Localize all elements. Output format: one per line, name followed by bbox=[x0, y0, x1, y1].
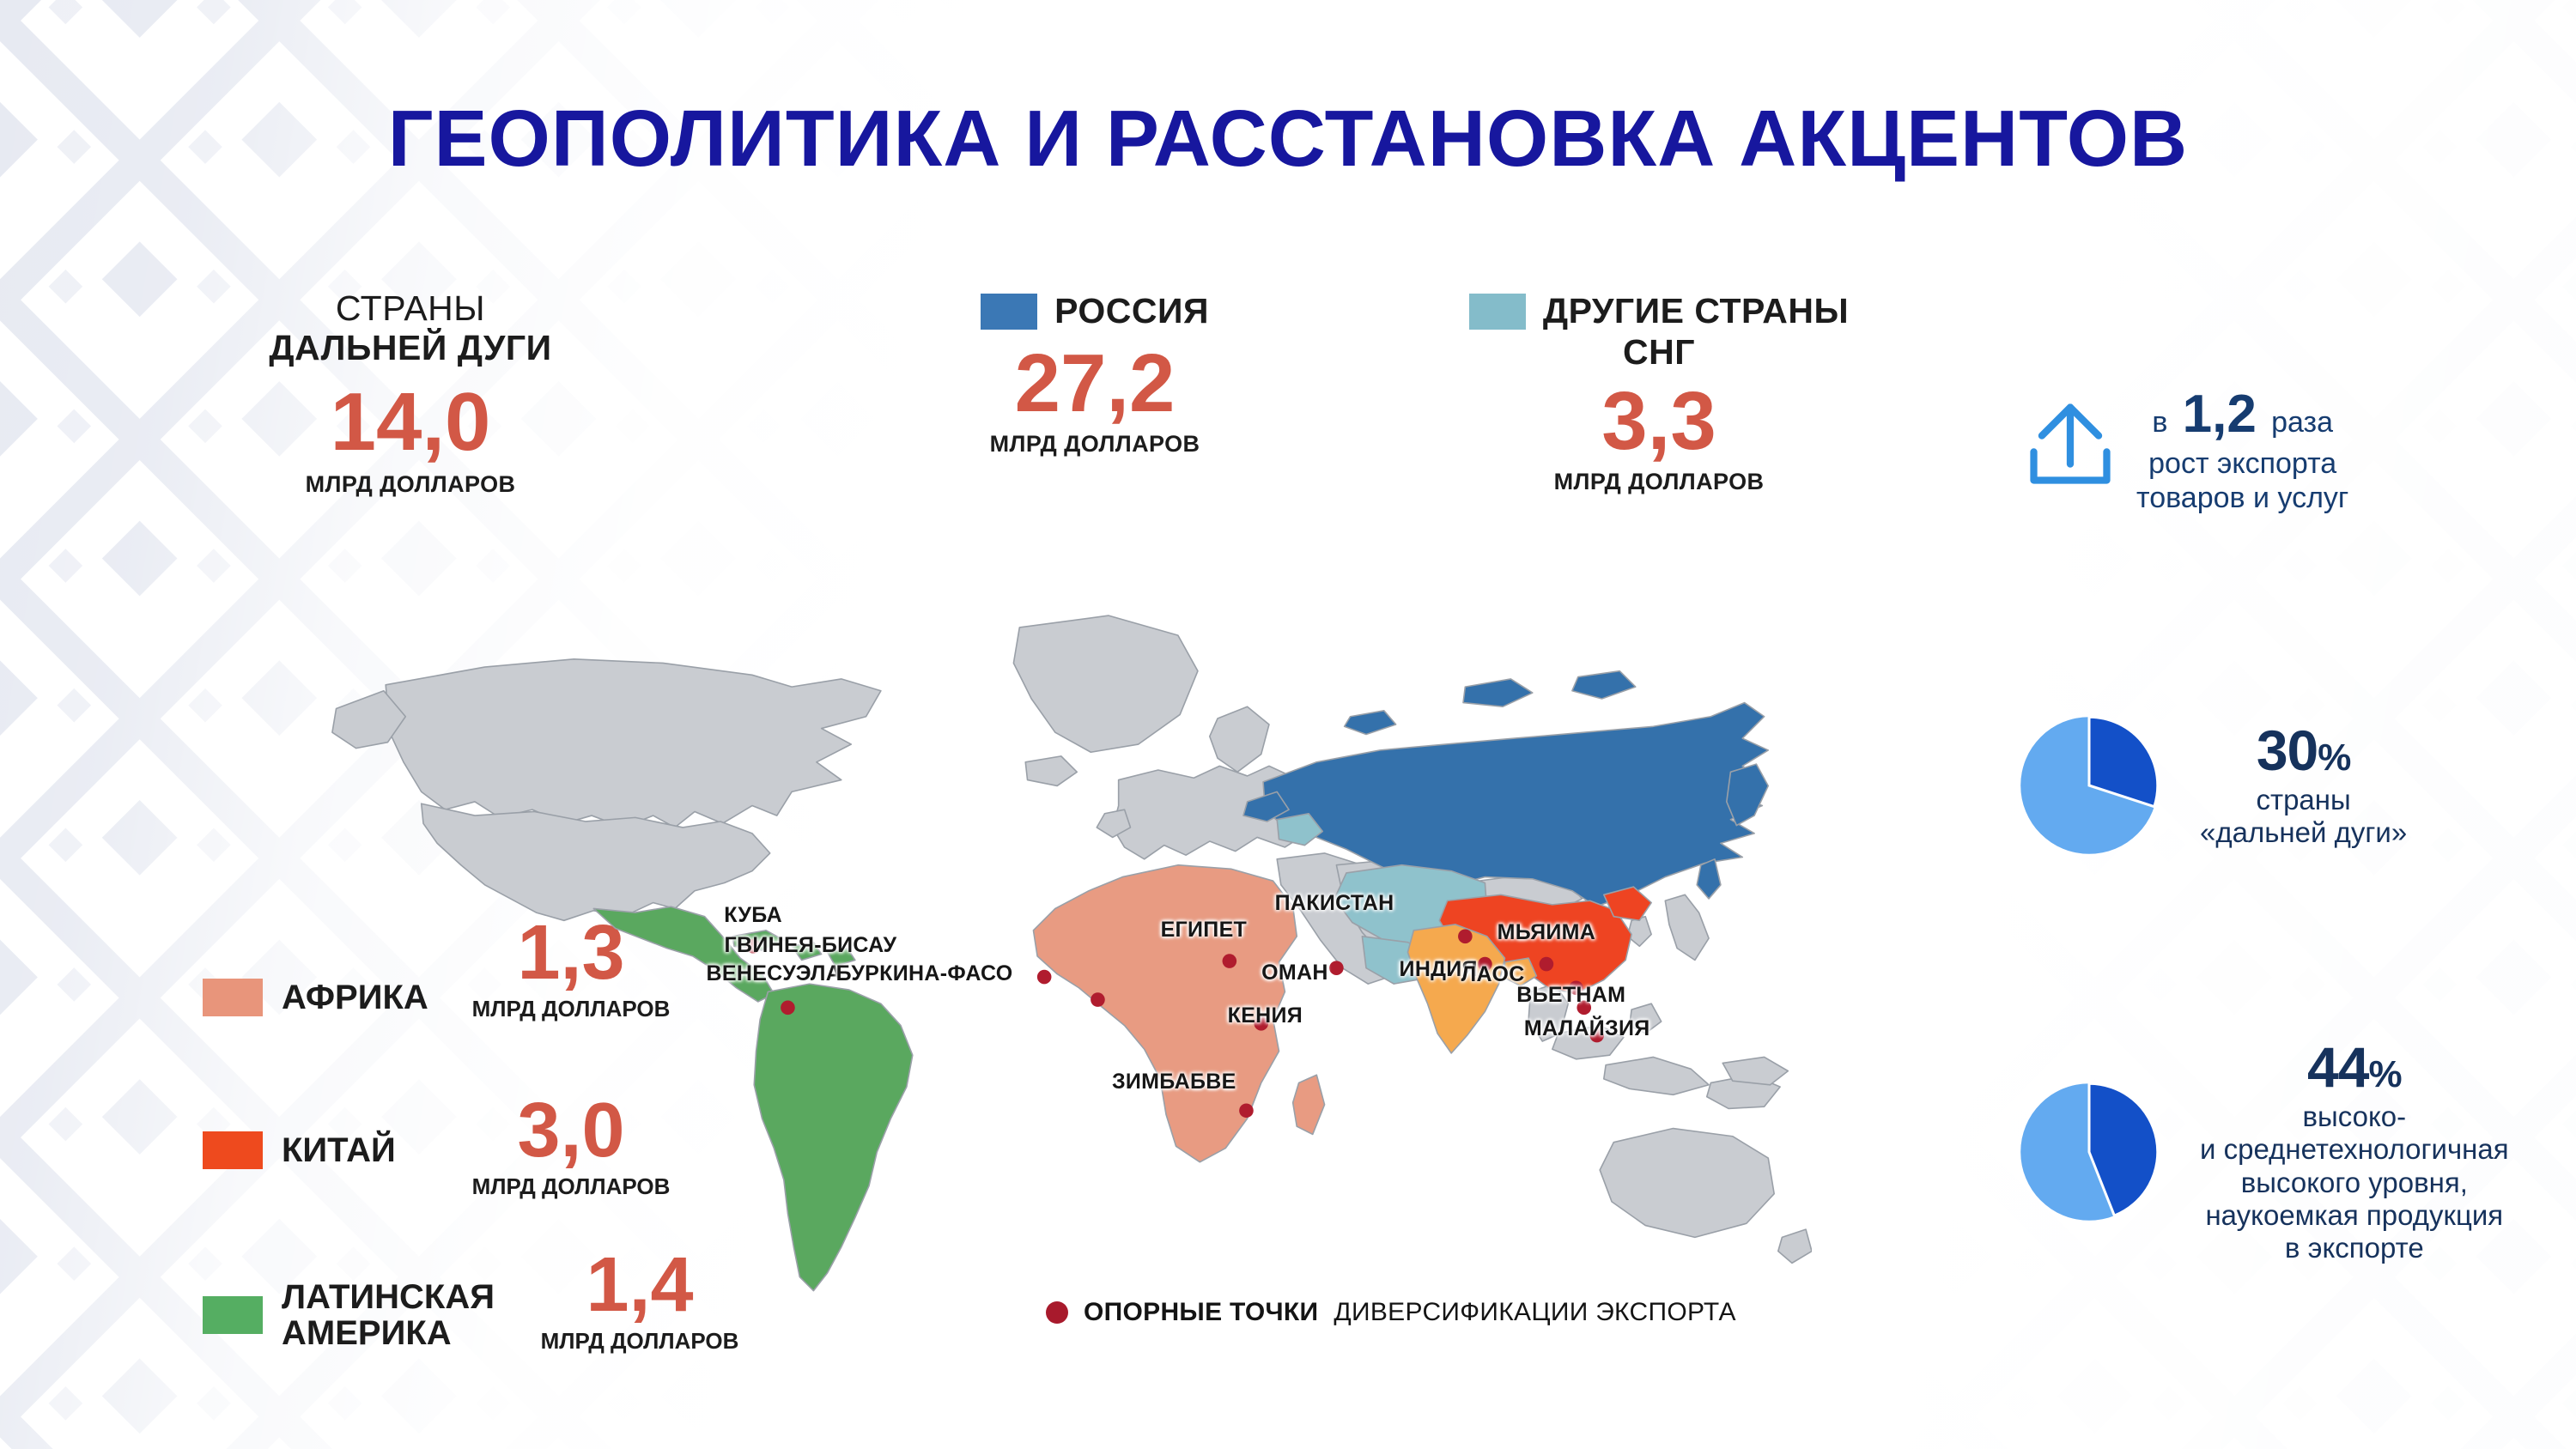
stat-block-far-arc: СТРАНЫ ДАЛЬНЕЙ ДУГИ 14,0 МЛРД ДОЛЛАРОВ bbox=[209, 289, 612, 498]
map-label: БУРКИНА-ФАСО bbox=[836, 961, 1013, 986]
map-footer-legend: ОПОРНЫЕ ТОЧКИ ДИВЕРСИФИКАЦИИ ЭКСПОРТА bbox=[1046, 1298, 1736, 1327]
russia-color-swatch bbox=[981, 294, 1037, 330]
china-color-swatch bbox=[203, 1131, 263, 1169]
pie-chart-1-graphic bbox=[2008, 704, 2171, 867]
map-dot bbox=[1329, 961, 1344, 975]
cis-label-line2: СНГ bbox=[1436, 333, 1882, 373]
latam-unit: МЛРД ДОЛЛАРОВ bbox=[498, 1328, 781, 1355]
growth-suffix: раза bbox=[2271, 406, 2333, 439]
map-label: КУБА bbox=[724, 903, 782, 928]
pie-1-percent: 30 bbox=[2257, 718, 2318, 782]
far-arc-value: 14,0 bbox=[209, 382, 612, 463]
russia-value: 27,2 bbox=[893, 343, 1297, 424]
map-dot bbox=[1037, 970, 1052, 985]
far-arc-line1: СТРАНЫ bbox=[209, 289, 612, 329]
africa-color-swatch bbox=[203, 979, 263, 1016]
pie-1-label: страны «дальней дуги» bbox=[2200, 784, 2407, 850]
far-arc-line2: ДАЛЬНЕЙ ДУГИ bbox=[209, 329, 612, 368]
map-dot bbox=[1458, 929, 1473, 943]
map-label: МАЛАЙЗИЯ bbox=[1524, 1016, 1650, 1041]
stat-block-cis: ДРУГИЕ СТРАНЫ СНГ 3,3 МЛРД ДОЛЛАРОВ bbox=[1436, 292, 1882, 495]
growth-indicator: в 1,2 раза рост экспорта товаров и услуг bbox=[2020, 388, 2348, 515]
stat-block-russia: РОССИЯ 27,2 МЛРД ДОЛЛАРОВ bbox=[893, 292, 1297, 458]
map-label: ЛАОС bbox=[1461, 962, 1525, 987]
growth-sub-line1: рост экспорта bbox=[2136, 446, 2348, 481]
pie-chart-far-arc-share: 30% страны «дальней дуги» bbox=[2008, 704, 2407, 867]
map-label: КЕНИЯ bbox=[1228, 1003, 1303, 1028]
map-dot bbox=[1540, 957, 1554, 972]
pie-2-percent: 44 bbox=[2307, 1035, 2368, 1099]
map-label: ВЕНЕСУЭЛА bbox=[707, 961, 842, 986]
growth-prefix: в bbox=[2152, 406, 2167, 439]
map-label: ЕГИПЕТ bbox=[1161, 918, 1248, 943]
map-label: ЗИМБАБВЕ bbox=[1112, 1070, 1236, 1094]
cis-unit: МЛРД ДОЛЛАРОВ bbox=[1436, 469, 1882, 495]
russia-unit: МЛРД ДОЛЛАРОВ bbox=[893, 431, 1297, 458]
growth-value: 1,2 bbox=[2183, 385, 2257, 444]
map-label: ВЬЕТНАМ bbox=[1516, 983, 1625, 1008]
map-label: ОМАН bbox=[1261, 961, 1328, 985]
map-dot bbox=[781, 1001, 795, 1016]
map-dot bbox=[1239, 1103, 1254, 1118]
map-footer-bold: ОПОРНЫЕ ТОЧКИ bbox=[1084, 1298, 1318, 1327]
map-footer-light: ДИВЕРСИФИКАЦИИ ЭКСПОРТА bbox=[1334, 1298, 1735, 1327]
pie-chart-hightech-share: 44% высоко- и среднетехнологичная высоко… bbox=[2008, 1039, 2509, 1264]
latam-color-swatch bbox=[203, 1296, 263, 1334]
page-title: ГЕОПОЛИТИКА И РАССТАНОВКА АКЦЕНТОВ bbox=[0, 93, 2576, 185]
support-point-dot-icon bbox=[1046, 1301, 1068, 1324]
cis-color-swatch bbox=[1469, 294, 1526, 330]
map-dot bbox=[1223, 954, 1237, 968]
world-map: КУБАВЕНЕСУЭЛАГВИНЕЯ-БИСАУБУРКИНА-ФАСОЕГИ… bbox=[326, 567, 1812, 1322]
russia-label: РОССИЯ bbox=[1054, 292, 1209, 331]
map-dot bbox=[1091, 992, 1105, 1007]
map-label: ПАКИСТАН bbox=[1275, 891, 1394, 916]
map-label: ГВИНЕЯ-БИСАУ bbox=[725, 933, 897, 958]
pie-2-label: высоко- и среднетехнологичная высокого у… bbox=[2200, 1100, 2509, 1264]
pie-1-percent-symbol: % bbox=[2318, 737, 2350, 779]
upload-arrow-icon bbox=[2020, 393, 2121, 494]
cis-label-line1: ДРУГИЕ СТРАНЫ bbox=[1543, 292, 1849, 331]
pie-chart-2-graphic bbox=[2008, 1070, 2171, 1234]
map-label: МЬЯИМА bbox=[1498, 920, 1595, 945]
pie-2-percent-symbol: % bbox=[2368, 1053, 2401, 1095]
cis-value: 3,3 bbox=[1436, 381, 1882, 462]
growth-sub-line2: товаров и услуг bbox=[2136, 481, 2348, 515]
far-arc-unit: МЛРД ДОЛЛАРОВ bbox=[209, 471, 612, 498]
